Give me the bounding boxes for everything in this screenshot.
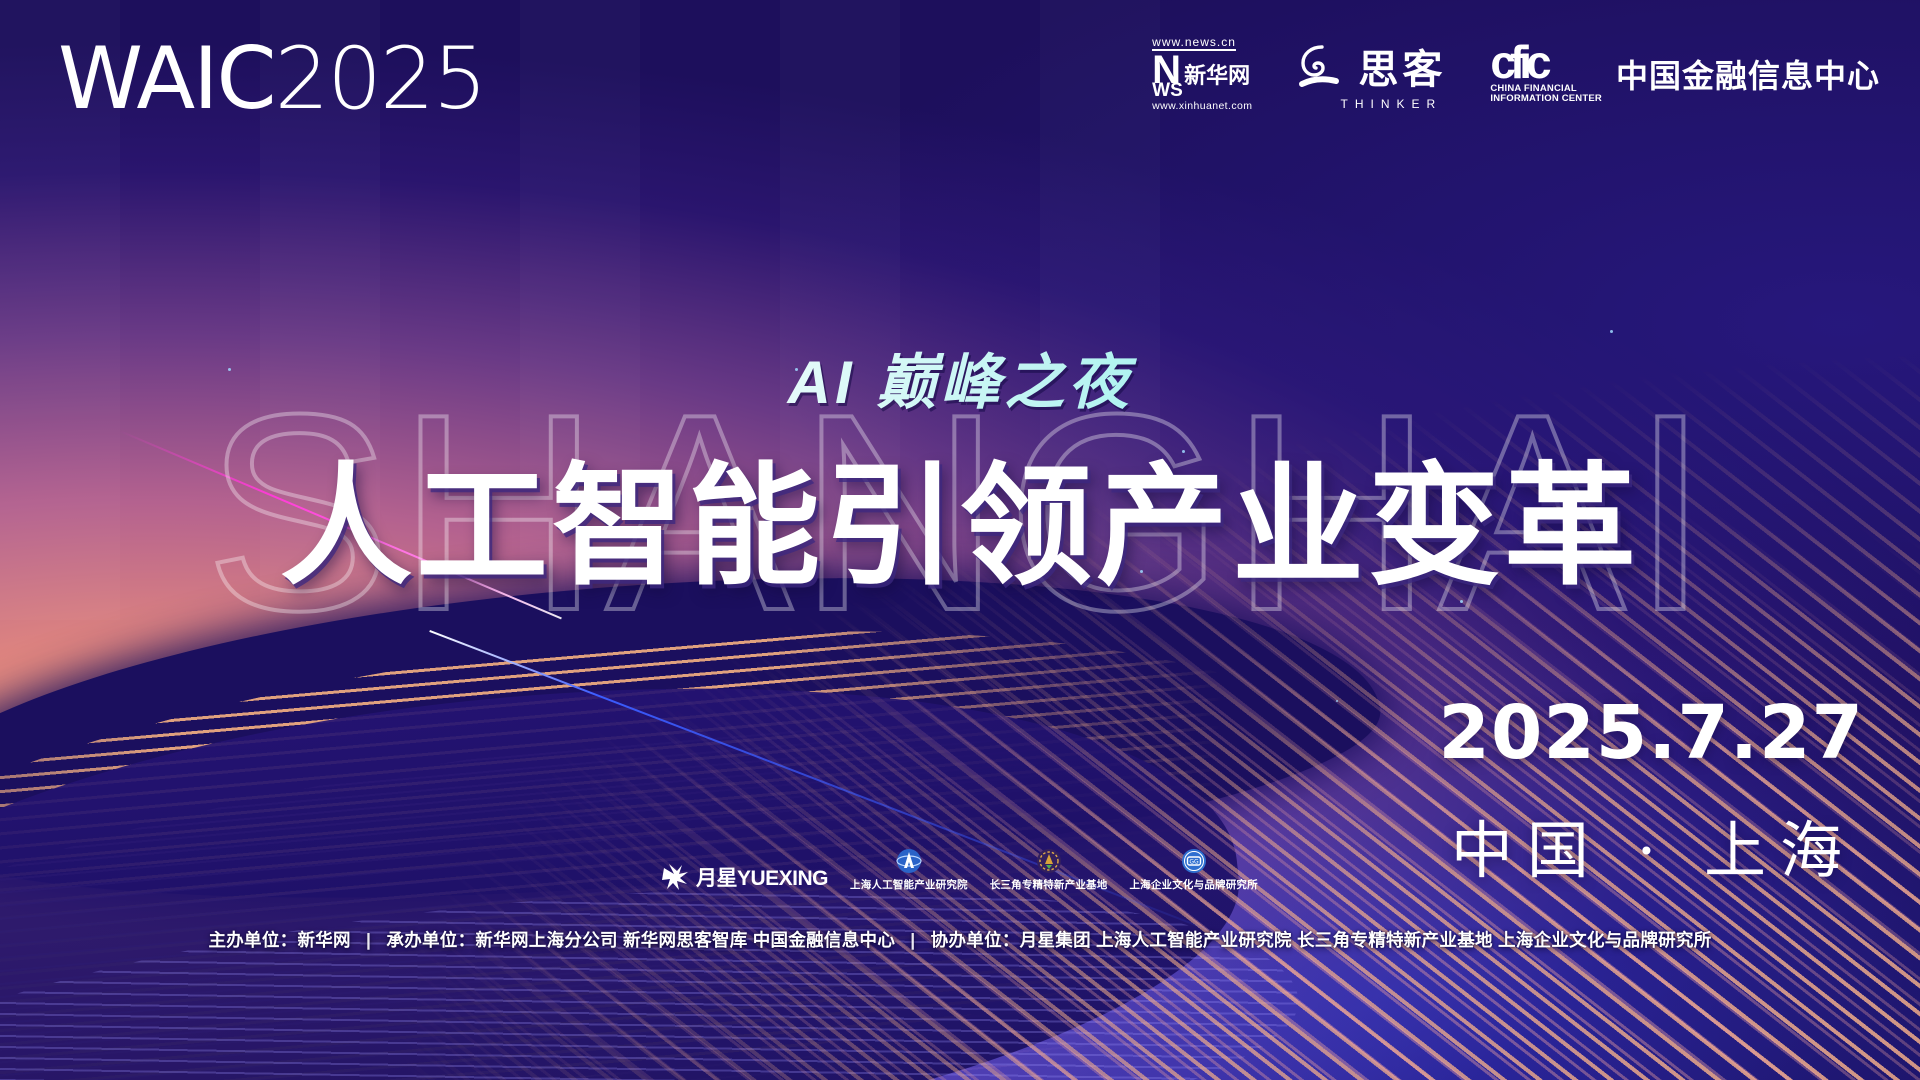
event-subtitle: AI 巅峰之夜 bbox=[0, 334, 1920, 421]
event-date: 2025.7.27 bbox=[1438, 690, 1864, 776]
organizer-label: 承办单位： bbox=[386, 930, 475, 950]
thinker-chinese-name: 思客 bbox=[1358, 37, 1446, 95]
seal-circle-icon: GG bbox=[1181, 848, 1207, 874]
coorganizer-label: 协办单位： bbox=[931, 930, 1020, 950]
xinhua-chinese-name: 新华网 bbox=[1184, 65, 1250, 87]
shanghai-ai-institute-label: 上海人工智能产业研究院 bbox=[850, 877, 968, 892]
poster-canvas: SHANGHAI WAIC2025 www.news.cn N 新华网 WS w… bbox=[0, 0, 1920, 1080]
svg-text:GG: GG bbox=[1189, 859, 1199, 866]
waic-logo: WAIC2025 bbox=[58, 36, 485, 122]
cfic-subtitle-line2: INFORMATION CENTER bbox=[1490, 94, 1602, 105]
organizer-values: 新华网上海分公司 新华网思客智库 中国金融信息中心 bbox=[475, 930, 895, 950]
credits-separator-1: | bbox=[366, 930, 371, 950]
yangtze-delta-base-label: 长三角专精特新产业基地 bbox=[990, 877, 1108, 892]
credits-separator-2: | bbox=[910, 930, 915, 950]
yuexing-star-icon bbox=[660, 862, 690, 892]
yuexing-logo: 月星YUEXING bbox=[660, 862, 828, 892]
partner-logo-row: 月星YUEXING 上海人工智能产业研究院 长三角专精特新产业基地 bbox=[660, 848, 1280, 892]
host-value: 新华网 bbox=[297, 930, 350, 950]
xinhua-url-bottom: www.xinhuanet.com bbox=[1152, 101, 1252, 112]
enterprise-culture-brand-label: 上海企业文化与品牌研究所 bbox=[1129, 877, 1257, 892]
event-headline: 人工智能引领产业变革 bbox=[0, 420, 1920, 611]
xinhua-suffix: WS bbox=[1152, 81, 1183, 100]
host-label: 主办单位： bbox=[208, 930, 297, 950]
cfic-glyph: cfic bbox=[1490, 42, 1602, 83]
sparkle-dot bbox=[1336, 700, 1338, 702]
enterprise-culture-brand-logo: GG 上海企业文化与品牌研究所 bbox=[1129, 848, 1257, 892]
shanghai-ai-institute-logo: 上海人工智能产业研究院 bbox=[850, 848, 968, 892]
delta-circle-icon bbox=[1036, 848, 1062, 874]
yangtze-delta-base-logo: 长三角专精特新产业基地 bbox=[990, 848, 1108, 892]
credits-line: 主办单位：新华网 | 承办单位：新华网上海分公司 新华网思客智库 中国金融信息中… bbox=[0, 927, 1920, 952]
thinker-logo: 思客 THINKER bbox=[1296, 37, 1446, 111]
swirl-brush-icon bbox=[1296, 43, 1348, 89]
event-location: 中国 · 上海 bbox=[1451, 800, 1856, 890]
coorganizer-values: 月星集团 上海人工智能产业研究院 长三角专精特新产业基地 上海企业文化与品牌研究… bbox=[1020, 930, 1712, 950]
waic-logo-text: WAIC bbox=[58, 29, 275, 129]
cfic-chinese-name: 中国金融信息中心 bbox=[1616, 51, 1880, 97]
waic-logo-year: 2025 bbox=[275, 29, 486, 129]
sparkle-dot bbox=[1610, 330, 1613, 333]
globe-a-icon bbox=[896, 848, 922, 874]
thinker-english-name: THINKER bbox=[1341, 97, 1443, 111]
header-logo-row: www.news.cn N 新华网 WS www.xinhuanet.com 思… bbox=[1152, 36, 1880, 112]
poster-header: WAIC2025 www.news.cn N 新华网 WS www.xinhua… bbox=[0, 0, 1920, 150]
cfic-logo: cfic CHINA FINANCIAL INFORMATION CENTER … bbox=[1490, 42, 1880, 105]
yuexing-label: 月星YUEXING bbox=[696, 862, 828, 892]
xinhua-net-logo: www.news.cn N 新华网 WS www.xinhuanet.com bbox=[1152, 36, 1252, 112]
